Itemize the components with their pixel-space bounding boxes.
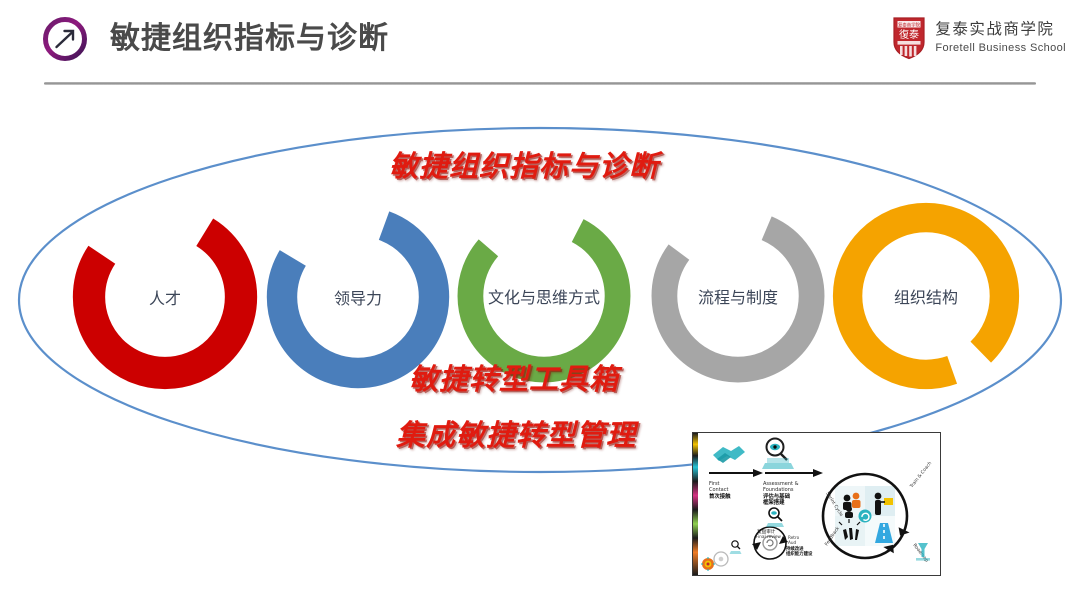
- svg-text:Contact: Contact: [709, 487, 728, 493]
- svg-text:持续改进: 持续改进: [785, 545, 804, 552]
- handshake-icon: [713, 446, 745, 463]
- svg-text:首次接触: 首次接触: [709, 492, 731, 500]
- slide-header: 敏捷组织指标与诊断 复泰商学院 復泰: [0, 0, 1080, 90]
- header-divider: [44, 82, 1036, 85]
- svg-text:复泰商学院: 复泰商学院: [898, 21, 921, 28]
- assessment-magnifier-icon: [762, 439, 794, 470]
- ring-label: 文化与思维方式: [452, 284, 636, 308]
- brand-name-en: Foretell Business School: [935, 43, 1066, 54]
- atom-icon: [714, 552, 728, 566]
- callout-title: 敏捷组织指标与诊断: [389, 143, 659, 185]
- inset-illustration: First Contact 首次接触 Assessment & Foundati…: [693, 433, 940, 575]
- ring-label: 组织结构: [828, 284, 1024, 308]
- ring-label: 人才: [70, 285, 260, 309]
- callout-toolbox: 敏捷转型工具箱: [409, 356, 619, 398]
- svg-text:组织能力建设: 组织能力建设: [786, 550, 813, 557]
- callout-management: 集成敏捷转型管理: [396, 412, 636, 454]
- color-strip: [693, 433, 698, 575]
- ring-org-structure: 组织结构: [828, 198, 1024, 394]
- ring-label: 领导力: [263, 285, 453, 309]
- brand-logo: 复泰商学院 復泰 复泰实战商学院 Foretell Business Schoo…: [892, 10, 1066, 66]
- ring-process-policy: 流程与制度: [646, 204, 830, 388]
- page-title: 敏捷组织指标与诊断: [110, 17, 389, 61]
- review-magnifier-icon: [766, 508, 784, 527]
- arrow-up-right-circle-icon: [42, 16, 88, 62]
- retro-audit-cycle: 复盘审计 Final review Retro Aud 持续改进 组织能力建设: [752, 527, 813, 559]
- ring-label: 流程与制度: [646, 284, 830, 308]
- svg-text:评估与基础: 评估与基础: [763, 492, 791, 500]
- small-magnifier-icon: [730, 541, 742, 554]
- svg-text:復泰: 復泰: [899, 28, 919, 41]
- svg-text:框架搭建: 框架搭建: [763, 498, 785, 506]
- svg-text:Foundations: Foundations: [763, 487, 794, 493]
- svg-text:Train & Coach: Train & Coach: [908, 460, 933, 490]
- shield-crest-icon: 复泰商学院 復泰: [892, 16, 926, 60]
- agile-transformation-process-diagram: First Contact 首次接触 Assessment & Foundati…: [692, 432, 941, 576]
- svg-text:Aud: Aud: [788, 540, 797, 545]
- slide-canvas: 敏捷组织指标与诊断 复泰商学院 復泰: [0, 0, 1080, 605]
- brand-name-cn: 复泰实战商学院: [935, 22, 1066, 38]
- rosette-icon: [701, 557, 715, 571]
- svg-text:Final review: Final review: [756, 534, 781, 539]
- ring-talent: 人才: [70, 202, 260, 392]
